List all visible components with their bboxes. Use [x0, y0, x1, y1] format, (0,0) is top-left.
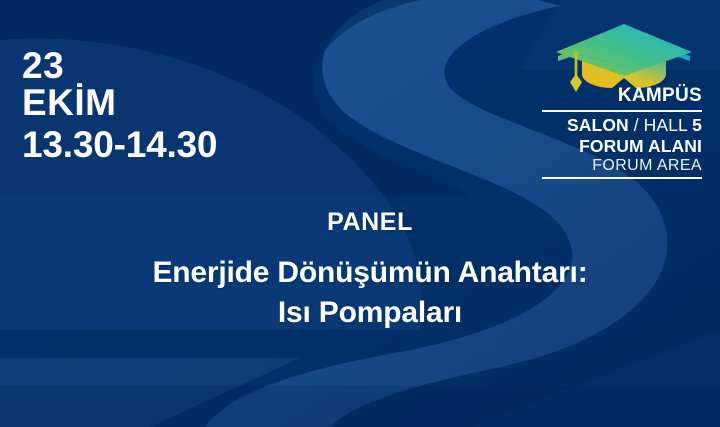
event-date-block: 23 EKİM 13.30-14.30	[22, 48, 217, 163]
event-text-block: PANEL Enerjide Dönüşümün Anahtarı: Isı P…	[62, 208, 678, 332]
event-day: 23	[22, 48, 217, 84]
logo-divider-bottom	[542, 177, 702, 179]
event-title-line-2: Isı Pompaları	[62, 293, 678, 333]
logo-brand-text: KAMPÜS	[542, 86, 702, 108]
logo-forum-english: FORUM AREA	[542, 156, 702, 175]
logo-hall-line: SALON / HALL 5	[542, 115, 702, 136]
logo-hall-english: / HALL	[634, 115, 687, 135]
event-title: Enerjide Dönüşümün Anahtarı: Isı Pompala…	[62, 253, 678, 332]
logo-hall-number: 5	[692, 115, 702, 135]
event-banner: 23 EKİM 13.30-14.30 PANEL Enerjide Dönüş…	[0, 0, 720, 427]
event-kind-label: PANEL	[62, 208, 678, 237]
graduation-cap-icon	[552, 22, 696, 94]
logo-hall-salon: SALON	[567, 115, 629, 135]
logo-divider-top	[542, 110, 702, 112]
event-month: EKİM	[22, 85, 217, 121]
logo-forum-turkish: FORUM ALANI	[542, 136, 702, 156]
event-title-line-1: Enerjide Dönüşümün Anahtarı:	[62, 253, 678, 293]
kampus-logo: KAMPÜS SALON / HALL 5 FORUM ALANI FORUM …	[542, 22, 702, 182]
event-time: 13.30-14.30	[22, 127, 217, 163]
graduation-cap-wrap	[542, 22, 702, 90]
